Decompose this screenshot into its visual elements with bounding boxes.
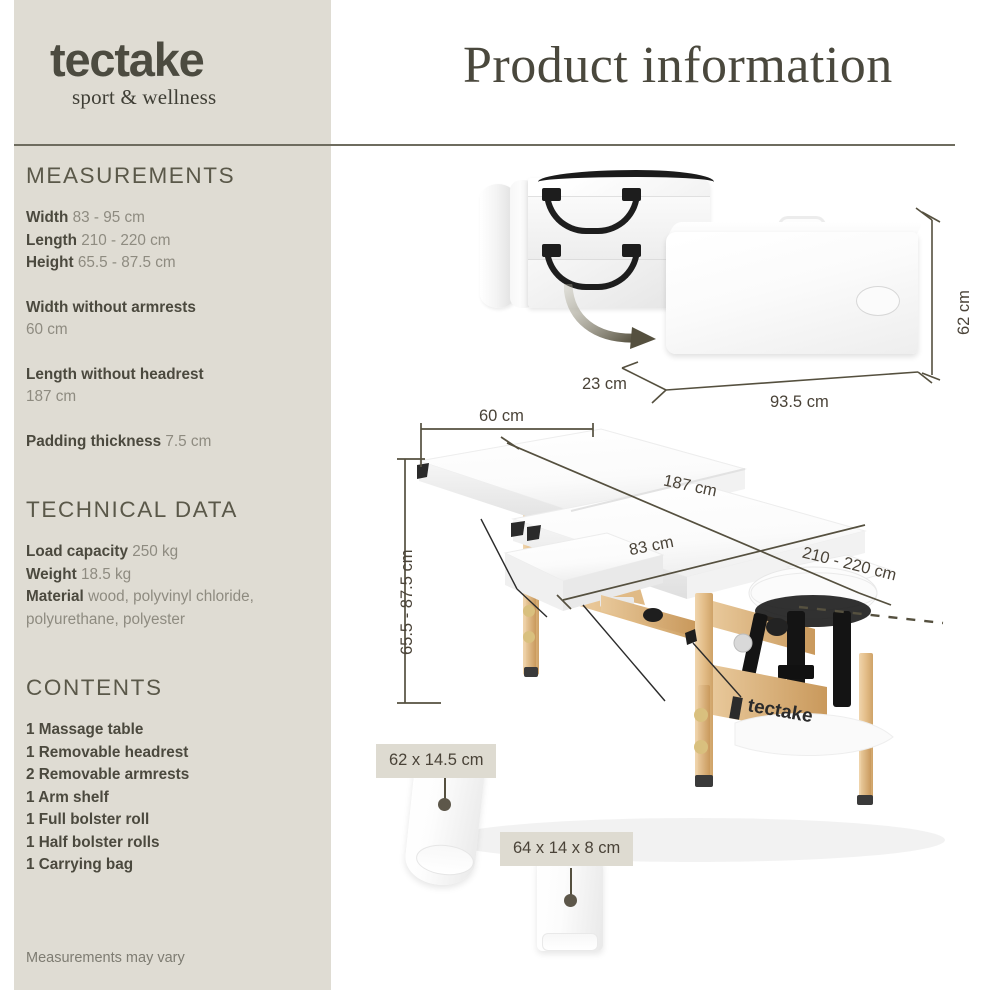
spec-load-capacity: Load capacity 250 kg xyxy=(26,541,326,564)
footnote-measurements-may-vary: Measurements may vary xyxy=(26,950,185,966)
brand-name: tectake xyxy=(50,36,310,83)
dimension-label-width-no-armrests: 60 cm xyxy=(479,407,524,426)
handle-tab xyxy=(622,244,641,257)
list-item: 1 Full bolster roll xyxy=(26,809,326,832)
list-item: 1 Half bolster rolls xyxy=(26,832,326,855)
face-hole-outline xyxy=(856,286,900,316)
handle-tab xyxy=(622,188,641,201)
spec-width-without-armrests-label: Width without armrests xyxy=(26,297,326,320)
spec-length-without-headrest-value: 187 cm xyxy=(26,386,326,409)
spec-value: 250 kg xyxy=(132,543,178,560)
bolster-end-cap xyxy=(542,933,598,951)
spec-length-without-headrest-label: Length without headrest xyxy=(26,364,326,387)
list-item: 1 Massage table xyxy=(26,719,326,742)
spec-value: 65.5 - 87.5 cm xyxy=(78,254,176,271)
brand-tagline: sport & wellness xyxy=(72,85,310,110)
section-heading-technical-data: TECHNICAL DATA xyxy=(26,497,326,523)
spec-value: 18.5 kg xyxy=(81,566,131,583)
list-item: 1 Arm shelf xyxy=(26,787,326,810)
header-divider xyxy=(14,144,955,146)
spec-width: Width 83 - 95 cm xyxy=(26,207,326,230)
brand-logo: tectake sport & wellness xyxy=(50,36,310,110)
callout-full-bolster-roll: 62 x 14.5 cm xyxy=(376,744,496,778)
spec-label: Weight xyxy=(26,566,77,583)
open-table-diagram: tectake xyxy=(395,415,975,885)
fold-arrow-icon xyxy=(564,284,674,352)
spec-value: 60 cm xyxy=(26,321,68,338)
callout-half-bolster-roll: 64 x 14 x 8 cm xyxy=(500,832,633,866)
spec-label: Material xyxy=(26,588,84,605)
handle-tab xyxy=(542,244,561,257)
callout-pin-dot xyxy=(564,894,577,907)
callout-pin-dot xyxy=(438,798,451,811)
folded-table-diagram: 23 cm 93.5 cm 62 cm xyxy=(470,160,970,425)
handle-tab xyxy=(542,188,561,201)
spec-label: Width without armrests xyxy=(26,299,196,316)
dimension-label-depth: 23 cm xyxy=(582,375,627,394)
spec-label: Load capacity xyxy=(26,543,128,560)
folded-table-illustration xyxy=(666,222,928,362)
dimension-label-height-range: 65.5 - 87.5 cm xyxy=(398,550,417,655)
section-heading-contents: CONTENTS xyxy=(26,675,326,701)
list-item: 1 Carrying bag xyxy=(26,854,326,877)
spec-padding-thickness: Padding thickness 7.5 cm xyxy=(26,431,326,454)
section-heading-measurements: MEASUREMENTS xyxy=(26,163,326,189)
spec-label: Padding thickness xyxy=(26,433,161,450)
spec-length: Length 210 - 220 cm xyxy=(26,230,326,253)
dimension-label-height: 62 cm xyxy=(955,290,974,335)
spec-height: Height 65.5 - 87.5 cm xyxy=(26,252,326,275)
spec-weight: Weight 18.5 kg xyxy=(26,564,326,587)
spec-label: Length without headrest xyxy=(26,366,204,383)
spec-value: 7.5 cm xyxy=(165,433,211,450)
spec-label: Length xyxy=(26,232,77,249)
sidebar-content: MEASUREMENTS Width 83 - 95 cm Length 210… xyxy=(26,163,326,877)
spec-label: Height xyxy=(26,254,74,271)
spec-material: Material wood, polyvinyl chloride, polyu… xyxy=(26,586,326,631)
product-information-sheet: tectake sport & wellness MEASUREMENTS Wi… xyxy=(0,0,1000,1000)
spec-width-without-armrests-value: 60 cm xyxy=(26,319,326,342)
shoulder-strap-icon xyxy=(538,170,714,185)
page-title: Product information xyxy=(463,36,893,95)
spec-value: 210 - 220 cm xyxy=(81,232,170,249)
dimension-label-length: 93.5 cm xyxy=(770,393,829,412)
list-item: 1 Removable headrest xyxy=(26,742,326,765)
spec-value: 187 cm xyxy=(26,388,76,405)
spec-value: 83 - 95 cm xyxy=(73,209,145,226)
spec-label: Width xyxy=(26,209,68,226)
list-item: 2 Removable armrests xyxy=(26,764,326,787)
